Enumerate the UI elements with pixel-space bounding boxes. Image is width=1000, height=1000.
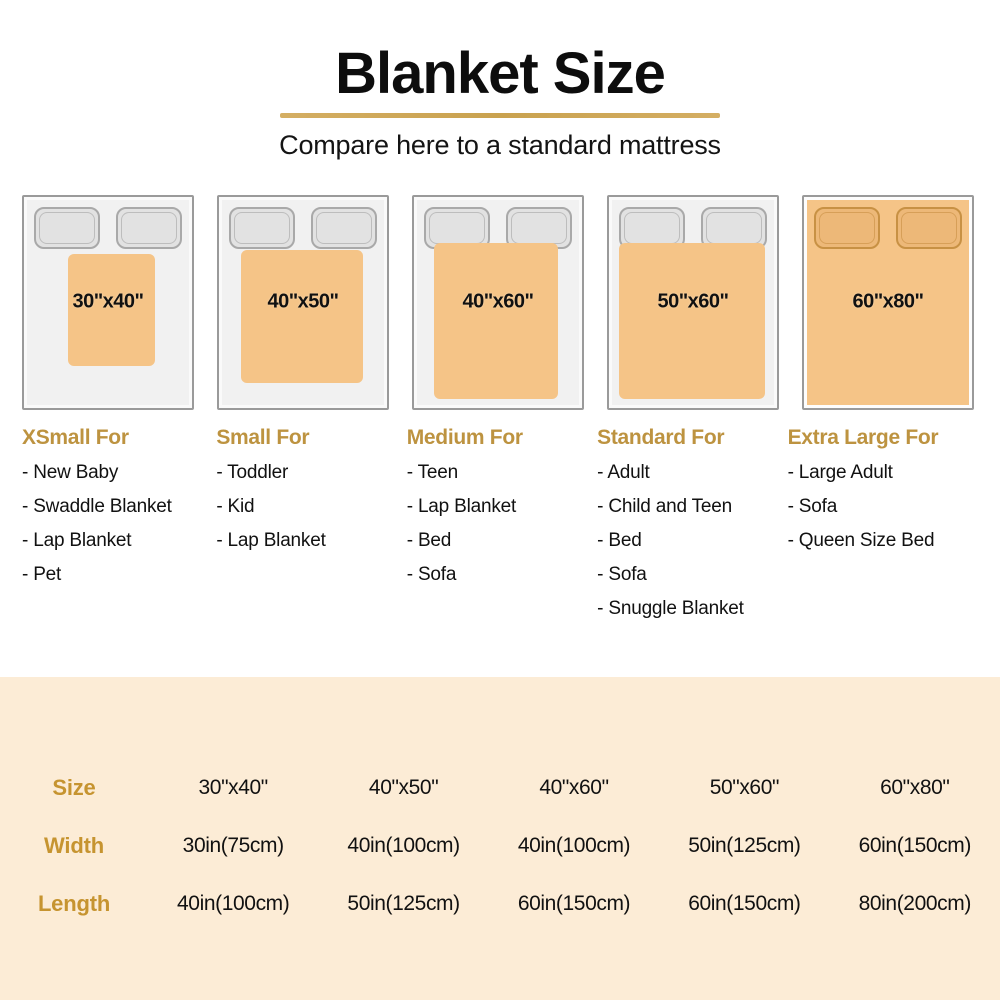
blanket-overlay bbox=[241, 250, 364, 383]
spec-cell: 80in(200cm) bbox=[830, 875, 1000, 933]
usecase-list-item: - Sofa bbox=[788, 496, 978, 518]
spec-cell: 40"x50" bbox=[318, 759, 488, 817]
usecase-list-item: - Pet bbox=[22, 564, 216, 586]
blanket-size-label: 40"x60" bbox=[414, 291, 582, 314]
spec-cell: 50in(125cm) bbox=[318, 875, 488, 933]
spec-cell: 40in(100cm) bbox=[489, 817, 659, 875]
spec-row-label: Width bbox=[0, 817, 148, 875]
spec-table-row: Length40in(100cm)50in(125cm)60in(150cm)6… bbox=[0, 875, 1000, 933]
bed-card-4: 50"x60" bbox=[607, 195, 783, 410]
blanket-size-label: 50"x60" bbox=[609, 291, 777, 314]
usecase-heading: Extra Large For bbox=[788, 426, 978, 450]
usecase-column-3: Medium For- Teen- Lap Blanket- Bed- Sofa bbox=[407, 426, 597, 632]
spec-cell: 30in(75cm) bbox=[148, 817, 318, 875]
usecase-list-item: - Toddler bbox=[216, 462, 406, 484]
blanket-overlay bbox=[434, 243, 558, 399]
mattress-illustration: 40"x50" bbox=[217, 195, 389, 410]
blanket-size-label: 60"x80" bbox=[804, 291, 972, 314]
blanket-size-label: 40"x50" bbox=[219, 291, 387, 314]
pillow-icon bbox=[896, 207, 962, 249]
spec-table: Size30"x40"40"x50"40"x60"50"x60"60"x80"W… bbox=[0, 759, 1000, 933]
blanket-size-label: 30"x40" bbox=[24, 291, 192, 314]
pillow-icon bbox=[814, 207, 880, 249]
blanket-overlay bbox=[619, 243, 765, 399]
usecase-list-item: - Kid bbox=[216, 496, 406, 518]
mattress-illustration: 50"x60" bbox=[607, 195, 779, 410]
spec-row-label: Length bbox=[0, 875, 148, 933]
spec-row-label: Size bbox=[0, 759, 148, 817]
spec-cell: 50"x60" bbox=[659, 759, 829, 817]
spec-cell: 40"x60" bbox=[489, 759, 659, 817]
pillow-pair bbox=[229, 207, 377, 249]
mattress-illustration: 60"x80" bbox=[802, 195, 974, 410]
bed-card-1: 30"x40" bbox=[22, 195, 198, 410]
usecase-list-item: - Lap Blanket bbox=[216, 530, 406, 552]
mattress-illustration: 40"x60" bbox=[412, 195, 584, 410]
usecase-list-item: - Sofa bbox=[407, 564, 597, 586]
spec-cell: 30"x40" bbox=[148, 759, 318, 817]
spec-cell: 40in(100cm) bbox=[318, 817, 488, 875]
usecase-column-5: Extra Large For- Large Adult- Sofa- Quee… bbox=[788, 426, 978, 632]
page-header: Blanket Size Compare here to a standard … bbox=[0, 0, 1000, 161]
bed-card-3: 40"x60" bbox=[412, 195, 588, 410]
usecase-heading: XSmall For bbox=[22, 426, 216, 450]
pillow-icon bbox=[34, 207, 100, 249]
usecase-list-item: - Adult bbox=[597, 462, 787, 484]
spec-cell: 60in(150cm) bbox=[830, 817, 1000, 875]
usecase-list-item: - Sofa bbox=[597, 564, 787, 586]
usecase-list-item: - Teen bbox=[407, 462, 597, 484]
title-underline-rule bbox=[280, 113, 720, 118]
usecase-heading: Small For bbox=[216, 426, 406, 450]
usecase-list-item: - Bed bbox=[407, 530, 597, 552]
pillow-pair bbox=[814, 207, 962, 249]
usecase-list-item: - Swaddle Blanket bbox=[22, 496, 216, 518]
usecase-column-2: Small For- Toddler- Kid- Lap Blanket bbox=[216, 426, 406, 632]
usecase-column-1: XSmall For- New Baby- Swaddle Blanket- L… bbox=[22, 426, 216, 632]
page-title: Blanket Size bbox=[329, 44, 671, 111]
spec-table-row: Width30in(75cm)40in(100cm)40in(100cm)50i… bbox=[0, 817, 1000, 875]
usecase-heading: Standard For bbox=[597, 426, 787, 450]
page-subtitle: Compare here to a standard mattress bbox=[0, 130, 1000, 161]
usecase-list-item: - Child and Teen bbox=[597, 496, 787, 518]
usecase-list-item: - Lap Blanket bbox=[22, 530, 216, 552]
bed-diagram-row: 30"x40"40"x50"40"x60"50"x60"60"x80" bbox=[0, 195, 1000, 410]
spec-cell: 60in(150cm) bbox=[489, 875, 659, 933]
usecase-list-row: XSmall For- New Baby- Swaddle Blanket- L… bbox=[0, 426, 1000, 632]
spec-cell: 60"x80" bbox=[830, 759, 1000, 817]
bed-card-5: 60"x80" bbox=[802, 195, 978, 410]
spec-table-row: Size30"x40"40"x50"40"x60"50"x60"60"x80" bbox=[0, 759, 1000, 817]
usecase-list-item: - Snuggle Blanket bbox=[597, 598, 787, 620]
mattress-illustration: 30"x40" bbox=[22, 195, 194, 410]
usecase-list-item: - Queen Size Bed bbox=[788, 530, 978, 552]
spec-table-panel: Size30"x40"40"x50"40"x60"50"x60"60"x80"W… bbox=[0, 677, 1000, 1000]
pillow-pair bbox=[34, 207, 182, 249]
spec-cell: 50in(125cm) bbox=[659, 817, 829, 875]
usecase-list-item: - Lap Blanket bbox=[407, 496, 597, 518]
spec-cell: 40in(100cm) bbox=[148, 875, 318, 933]
pillow-icon bbox=[116, 207, 182, 249]
bed-card-2: 40"x50" bbox=[217, 195, 393, 410]
pillow-icon bbox=[229, 207, 295, 249]
usecase-heading: Medium For bbox=[407, 426, 597, 450]
usecase-list-item: - Large Adult bbox=[788, 462, 978, 484]
spec-cell: 60in(150cm) bbox=[659, 875, 829, 933]
usecase-list-item: - Bed bbox=[597, 530, 787, 552]
pillow-icon bbox=[311, 207, 377, 249]
usecase-column-4: Standard For- Adult- Child and Teen- Bed… bbox=[597, 426, 787, 632]
usecase-list-item: - New Baby bbox=[22, 462, 216, 484]
